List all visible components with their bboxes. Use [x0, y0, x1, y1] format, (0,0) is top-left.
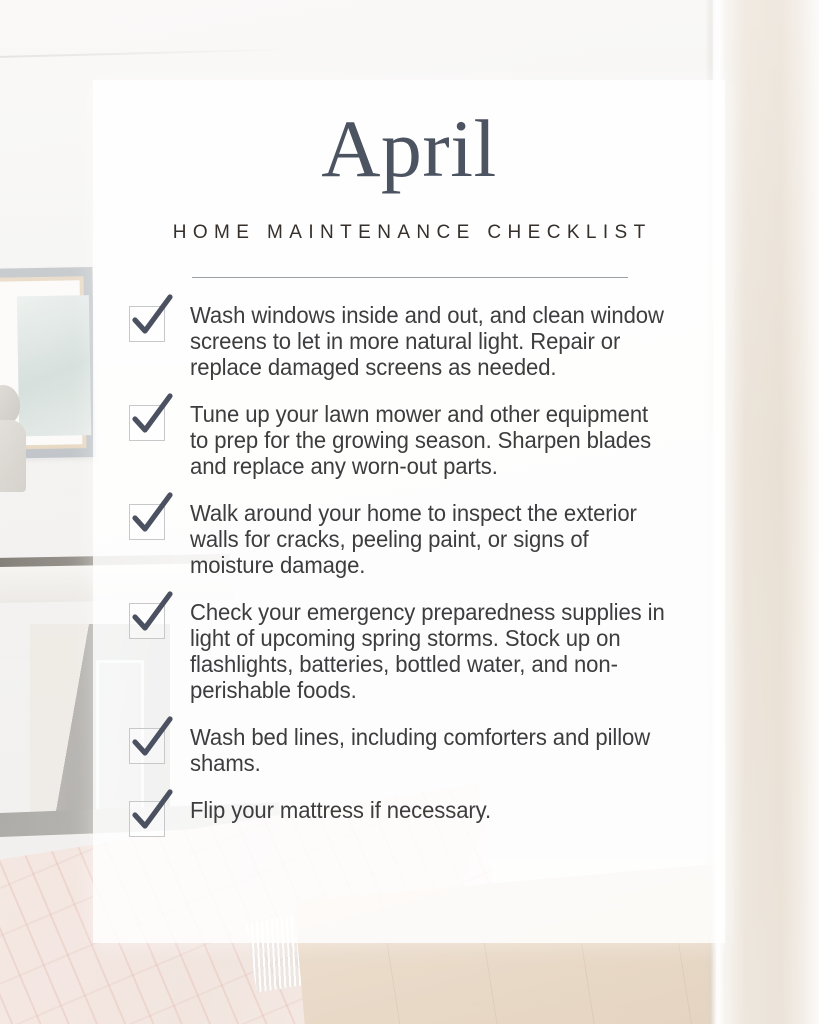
- check-icon: [132, 300, 172, 340]
- list-item-label: Tune up your lawn mower and other equipm…: [190, 401, 668, 479]
- bust-sculpture-body: [0, 420, 26, 492]
- check-icon: [132, 399, 172, 439]
- checklist: Wash windows inside and out, and clean w…: [129, 302, 699, 837]
- checkbox-4[interactable]: [129, 603, 165, 639]
- list-item-label: Wash bed lines, including comforters and…: [190, 724, 668, 776]
- page-title: April: [93, 108, 725, 190]
- checkbox-1[interactable]: [129, 306, 165, 342]
- check-icon: [132, 795, 172, 835]
- check-icon: [132, 722, 172, 762]
- list-item[interactable]: Flip your mattress if necessary.: [129, 797, 699, 837]
- mirror-glass: [17, 295, 91, 436]
- title-divider: [192, 277, 628, 278]
- page-subtitle: HOME MAINTENANCE CHECKLIST: [93, 222, 725, 244]
- checkbox-6[interactable]: [129, 801, 165, 837]
- list-item-label: Walk around your home to inspect the ext…: [190, 500, 668, 578]
- list-item[interactable]: Walk around your home to inspect the ext…: [129, 500, 699, 578]
- checkbox-3[interactable]: [129, 504, 165, 540]
- door-trim-column: [719, 0, 819, 1024]
- list-item[interactable]: Wash bed lines, including comforters and…: [129, 724, 699, 776]
- list-item-label: Flip your mattress if necessary.: [190, 797, 668, 823]
- checklist-card-inner: April HOME MAINTENANCE CHECKLIST Wash wi…: [93, 80, 725, 943]
- checklist-card: April HOME MAINTENANCE CHECKLIST Wash wi…: [93, 80, 725, 943]
- check-icon: [132, 597, 172, 637]
- check-icon: [132, 498, 172, 538]
- checkbox-5[interactable]: [129, 728, 165, 764]
- list-item-label: Check your emergency preparedness suppli…: [190, 599, 668, 703]
- screenshot-root: April HOME MAINTENANCE CHECKLIST Wash wi…: [0, 0, 819, 1024]
- checkbox-2[interactable]: [129, 405, 165, 441]
- list-item[interactable]: Tune up your lawn mower and other equipm…: [129, 401, 699, 479]
- list-item[interactable]: Check your emergency preparedness suppli…: [129, 599, 699, 703]
- list-item-label: Wash windows inside and out, and clean w…: [190, 302, 668, 380]
- list-item[interactable]: Wash windows inside and out, and clean w…: [129, 302, 699, 380]
